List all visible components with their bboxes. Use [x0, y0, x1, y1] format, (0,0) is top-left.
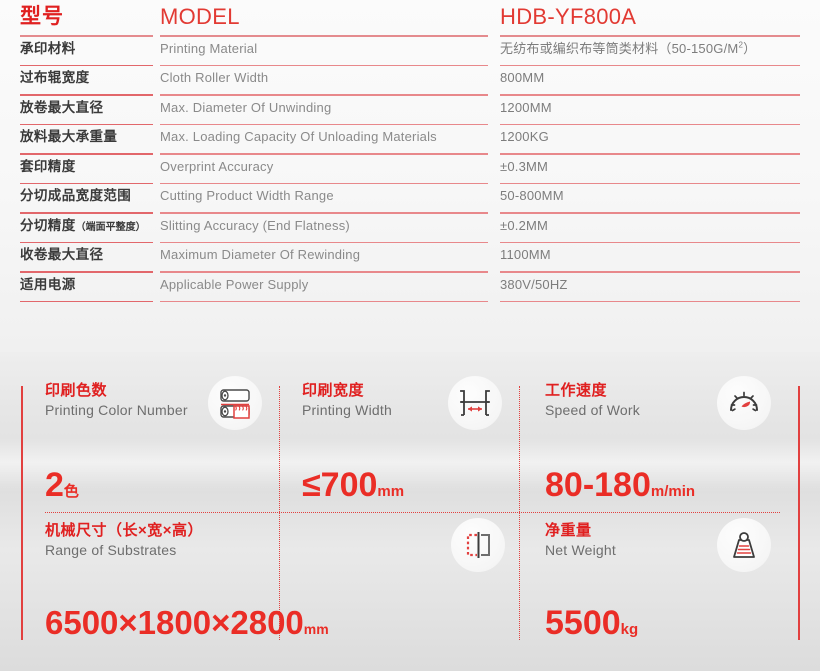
spec-row: 放卷最大直径Max. Diameter Of Unwinding1200MM [0, 96, 820, 126]
spec-label-en: Max. Loading Capacity Of Unloading Mater… [160, 129, 437, 144]
spec-label-cn: 套印精度 [20, 159, 76, 174]
spec-cell-value: 50-800MM [500, 187, 820, 214]
row-rule [500, 65, 800, 67]
spec-label-cn: 分切成品宽度范围 [20, 188, 131, 203]
roller-fabric-icon [208, 376, 262, 430]
spec-label-en: Cloth Roller Width [160, 70, 268, 85]
spec-header-cell-en: MODEL [160, 4, 500, 37]
spec-cell-en: Cloth Roller Width [160, 69, 500, 96]
spec-label-en: Maximum Diameter Of Rewinding [160, 247, 360, 262]
cards-vertical-divider-2 [519, 386, 520, 640]
card-value: 2色 [45, 468, 79, 502]
spec-cell-en: Printing Material [160, 40, 500, 67]
spec-cell-en: Applicable Power Supply [160, 276, 500, 303]
spec-cell-en: Max. Diameter Of Unwinding [160, 99, 500, 126]
card-unit: mm [304, 621, 329, 637]
spec-label-cn: 收卷最大直径 [20, 247, 103, 262]
spec-cell-value: 无纺布或编织布等筒类材料（50-150G/M2） [500, 38, 820, 67]
spec-row: 收卷最大直径Maximum Diameter Of Rewinding1100M… [0, 243, 820, 273]
spec-cell-value: 1200MM [500, 99, 820, 126]
card-unit: kg [621, 621, 639, 638]
card-value: 80-180m/min [545, 468, 695, 502]
row-rule [500, 183, 800, 185]
row-rule [160, 183, 488, 185]
card-machine-dimensions: 机械尺寸（长×宽×高） Range of Substrates 6500×180… [45, 522, 435, 657]
spec-label-cn: 分切精度（端面平整度） [20, 218, 146, 233]
spec-value: 800MM [500, 70, 544, 85]
row-rule [500, 242, 800, 244]
spec-cell-en: Overprint Accuracy [160, 158, 500, 185]
card-printing-color-number: 印刷色数 Printing Color Number 2色 [45, 382, 275, 512]
spec-cell-cn: 放料最大承重量 [0, 125, 160, 155]
spec-label-cn: 过布辊宽度 [20, 70, 90, 85]
spec-cell-cn: 适用电源 [0, 273, 160, 303]
weight-icon [717, 518, 771, 572]
spec-label-en: Max. Diameter Of Unwinding [160, 100, 331, 115]
card-value: 6500×1800×2800mm [45, 606, 329, 639]
cards-horizontal-divider [45, 512, 780, 513]
header-label-en: MODEL [160, 4, 240, 29]
spec-cell-value: ±0.3MM [500, 158, 820, 185]
card-unit: 色 [64, 483, 79, 500]
spec-value: 1100MM [500, 247, 551, 262]
row-rule [160, 153, 488, 155]
spec-cell-value: 1200KG [500, 128, 820, 155]
dimension-bracket-icon [451, 518, 505, 572]
speed-gauge-icon [717, 376, 771, 430]
spec-cell-en: Max. Loading Capacity Of Unloading Mater… [160, 128, 500, 155]
card-value: 5500kg [545, 606, 638, 640]
spec-header-cell-model: HDB-YF800A [500, 4, 820, 37]
spec-label-cn: 放料最大承重量 [20, 129, 117, 144]
card-value: ≤700mm [302, 468, 404, 502]
spec-value: 无纺布或编织布等筒类材料（50-150G/M2） [500, 41, 756, 56]
width-measure-icon [448, 376, 502, 430]
spec-cell-cn: 过布辊宽度 [0, 66, 160, 96]
cards-right-border [798, 386, 800, 640]
spec-label-cn: 承印材料 [20, 41, 76, 56]
spec-value-superscript: 2 [738, 40, 743, 49]
spec-cell-cn: 分切成品宽度范围 [0, 184, 160, 214]
spec-header-row: 型号MODELHDB-YF800A [0, 0, 820, 37]
spec-label-en: Slitting Accuracy (End Flatness) [160, 218, 350, 233]
row-rule [160, 242, 488, 244]
spec-value: 50-800MM [500, 188, 564, 203]
row-rule [160, 212, 488, 214]
card-unit: m/min [651, 483, 695, 500]
row-rule [500, 153, 800, 155]
row-rule [160, 301, 488, 303]
cards-left-border [21, 386, 23, 640]
spec-row: 放料最大承重量Max. Loading Capacity Of Unloadin… [0, 125, 820, 155]
spec-cell-value: 800MM [500, 69, 820, 96]
spec-cell-cn: 套印精度 [0, 155, 160, 185]
spec-value: ±0.2MM [500, 218, 548, 233]
spec-row: 套印精度Overprint Accuracy±0.3MM [0, 155, 820, 185]
card-net-weight: 净重量 Net Weight 5500kg [545, 522, 795, 657]
spec-cell-en: Slitting Accuracy (End Flatness) [160, 217, 500, 244]
spec-label-cn-note: （端面平整度） [76, 222, 146, 233]
card-title-cn: 机械尺寸（长×宽×高） [45, 522, 435, 539]
spec-label-cn: 适用电源 [20, 277, 76, 292]
row-rule [160, 124, 488, 126]
row-rule [500, 35, 800, 37]
row-rule [160, 35, 488, 37]
card-unit: mm [377, 483, 404, 500]
card-printing-width: 印刷宽度 Printing Width ≤700mm [302, 382, 517, 512]
spec-value: 380V/50HZ [500, 277, 568, 292]
header-model-value: HDB-YF800A [500, 4, 636, 29]
spec-value: 1200MM [500, 100, 552, 115]
spec-cell-en: Cutting Product Width Range [160, 187, 500, 214]
spec-cell-en: Maximum Diameter Of Rewinding [160, 246, 500, 273]
spec-label-en: Cutting Product Width Range [160, 188, 334, 203]
spec-cell-cn: 分切精度（端面平整度） [0, 214, 160, 244]
spec-row: 承印材料Printing Material无纺布或编织布等筒类材料（50-150… [0, 37, 820, 67]
row-rule [20, 301, 153, 303]
spec-cell-cn: 放卷最大直径 [0, 96, 160, 126]
row-rule [160, 94, 488, 96]
row-rule [500, 94, 800, 96]
row-rule [500, 301, 800, 303]
spec-cell-value: ±0.2MM [500, 217, 820, 244]
card-title-en: Range of Substrates [45, 542, 435, 558]
spec-label-en: Overprint Accuracy [160, 159, 273, 174]
header-label-cn: 型号 [20, 5, 64, 28]
row-rule [500, 212, 800, 214]
spec-cell-cn: 承印材料 [0, 37, 160, 67]
row-rule [160, 271, 488, 273]
spec-label-cn: 放卷最大直径 [20, 100, 103, 115]
spec-value: ±0.3MM [500, 159, 548, 174]
spec-label-en: Applicable Power Supply [160, 277, 308, 292]
specification-table: 型号MODELHDB-YF800A承印材料Printing Material无纺… [0, 0, 820, 302]
spec-value: 1200KG [500, 129, 549, 144]
spec-cell-cn: 收卷最大直径 [0, 243, 160, 273]
spec-sheet-page: 型号MODELHDB-YF800A承印材料Printing Material无纺… [0, 0, 820, 671]
spec-cell-value: 380V/50HZ [500, 276, 820, 303]
spec-row: 适用电源Applicable Power Supply380V/50HZ [0, 273, 820, 303]
row-rule [160, 65, 488, 67]
spec-row: 分切精度（端面平整度）Slitting Accuracy (End Flatne… [0, 214, 820, 244]
spec-label-en: Printing Material [160, 41, 257, 56]
spec-row: 分切成品宽度范围Cutting Product Width Range50-80… [0, 184, 820, 214]
row-rule [500, 271, 800, 273]
spec-header-cell-cn: 型号 [0, 0, 160, 37]
card-speed-of-work: 工作速度 Speed of Work 80-180m/min [545, 382, 795, 512]
spec-row: 过布辊宽度Cloth Roller Width800MM [0, 66, 820, 96]
specification-table-section: 型号MODELHDB-YF800A承印材料Printing Material无纺… [0, 0, 820, 352]
row-rule [500, 124, 800, 126]
spec-cell-value: 1100MM [500, 246, 820, 273]
